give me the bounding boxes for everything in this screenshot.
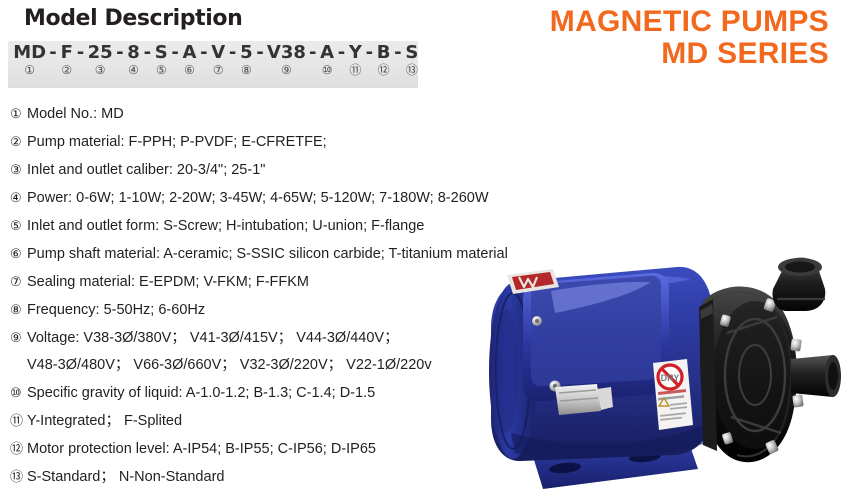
description-text: Specific gravity of liquid: A-1.0-1.2; B… (27, 380, 490, 407)
model-code-token: S (155, 43, 168, 63)
model-code-segment: 5⑧ (240, 43, 252, 78)
description-text: V48-3Ø/480V； V66-3Ø/660V； V32-3Ø/220V； V… (27, 352, 490, 379)
description-marker: ③ (10, 156, 27, 183)
model-code-index: ② (61, 63, 72, 78)
model-code-token: 25 (88, 43, 113, 63)
description-line: ⑥Pump shaft material: A-ceramic; S-SSIC … (10, 240, 490, 268)
description-line: ⑪Y-Integrated； F-Splited (10, 407, 490, 435)
page-title: MAGNETIC PUMPS MD SERIES (550, 6, 829, 70)
model-code-token: 5 (240, 43, 253, 63)
model-code-token: 8 (127, 43, 140, 63)
model-code-token: V38 (267, 43, 306, 63)
model-code-index: ⑥ (184, 63, 195, 78)
model-code-band: MD①-F②-25③-8④-S⑤-A⑥-V⑦-5⑧-V38⑨-A⑩-Y⑪-B⑫-… (8, 41, 418, 88)
description-line: ⑤Inlet and outlet form: S-Screw; H-intub… (10, 212, 490, 240)
description-marker: ② (10, 128, 27, 155)
model-description-panel: Model Description MD①-F②-25③-8④-S⑤-A⑥-V⑦… (0, 0, 500, 500)
description-marker: ⑥ (10, 240, 27, 267)
description-text: Inlet and outlet caliber: 20-3/4"; 25-1" (27, 157, 490, 184)
description-list: ①Model No.: MD②Pump material: F-PPH; P-P… (10, 100, 490, 491)
model-code-segment: S⑬ (406, 43, 418, 78)
description-line: V48-3Ø/480V； V66-3Ø/660V； V32-3Ø/220V； V… (10, 352, 490, 379)
description-text: Pump shaft material: A-ceramic; S-SSIC s… (27, 241, 508, 268)
model-code-segment: 8④ (128, 43, 140, 78)
description-marker: ⑤ (10, 212, 27, 239)
model-code-segment: Y⑪ (349, 43, 361, 78)
description-marker: ⑬ (10, 463, 27, 490)
description-text: Inlet and outlet form: S-Screw; H-intuba… (27, 213, 490, 240)
model-code-segment: A⑩ (320, 43, 333, 78)
model-code-segment: B⑫ (377, 43, 390, 78)
model-code-separator: - (196, 43, 211, 63)
description-line: ③Inlet and outlet caliber: 20-3/4"; 25-1… (10, 156, 490, 184)
model-code-index: ④ (128, 63, 139, 78)
description-line: ⑬S-Standard； N-Non-Standard (10, 463, 490, 491)
description-marker: ① (10, 100, 27, 127)
description-line: ⑩Specific gravity of liquid: A-1.0-1.2; … (10, 379, 490, 407)
page-title-line2: MD SERIES (550, 38, 829, 70)
description-line: ②Pump material: F-PPH; P-PVDF; E-CFRETFE… (10, 128, 490, 156)
no-dry-run-warning-label: DRY (653, 359, 693, 430)
model-code-token: B (377, 43, 391, 63)
description-line: ①Model No.: MD (10, 100, 490, 128)
model-code-segment: S⑤ (155, 43, 167, 78)
model-code-token: F (61, 43, 73, 63)
model-code-index: ⑧ (241, 63, 252, 78)
model-code-separator: - (305, 43, 320, 63)
section-title: Model Description (24, 6, 242, 31)
model-code-separator: - (390, 43, 405, 63)
pump-terminal-box (523, 273, 669, 401)
description-line: ⑨Voltage: V38-3Ø/380V； V41-3Ø/415V； V44-… (10, 324, 490, 352)
model-code-token: S (405, 43, 418, 63)
model-code-separator: - (362, 43, 377, 63)
description-text: Power: 0-6W; 1-10W; 2-20W; 3-45W; 4-65W;… (27, 185, 490, 212)
model-code-index: ⑬ (406, 63, 418, 78)
description-line: ⑧Frequency: 5-50Hz; 6-60Hz (10, 296, 490, 324)
model-code-separator: - (112, 43, 127, 63)
model-code-separator: - (334, 43, 349, 63)
model-code-segment: V38⑨ (268, 43, 305, 78)
model-code-separator: - (167, 43, 182, 63)
model-code-index: ⑫ (378, 63, 390, 78)
model-code-row: MD①-F②-25③-8④-S⑤-A⑥-V⑦-5⑧-V38⑨-A⑩-Y⑪-B⑫-… (8, 43, 418, 78)
description-text: S-Standard； N-Non-Standard (27, 464, 490, 491)
model-code-segment: MD① (14, 43, 45, 78)
model-code-token: Y (349, 43, 362, 63)
model-code-index: ① (24, 63, 35, 78)
model-code-token: A (320, 43, 334, 63)
description-line: ⑫Motor protection level: A-IP54; B-IP55;… (10, 435, 490, 463)
description-text: Model No.: MD (27, 101, 490, 128)
description-line: ⑦Sealing material: E-EPDM; V-FKM; F-FFKM (10, 268, 490, 296)
description-marker: ⑫ (10, 435, 27, 462)
page-title-line1: MAGNETIC PUMPS (550, 6, 829, 38)
description-marker: ⑦ (10, 268, 27, 295)
description-marker: ④ (10, 184, 27, 211)
model-code-token: V (211, 43, 225, 63)
model-code-index: ⑦ (213, 63, 224, 78)
model-code-segment: F② (61, 43, 73, 78)
pump-head (699, 286, 804, 462)
description-text: Voltage: V38-3Ø/380V； V41-3Ø/415V； V44-3… (27, 325, 490, 352)
model-code-index: ⑨ (281, 63, 292, 78)
model-code-index: ⑤ (156, 63, 167, 78)
model-code-separator: - (225, 43, 240, 63)
description-text: Sealing material: E-EPDM; V-FKM; F-FFKM (27, 269, 490, 296)
product-photo-magnetic-pump: DRY (455, 255, 841, 500)
model-code-separator: - (45, 43, 60, 63)
description-text: Frequency: 5-50Hz; 6-60Hz (27, 297, 490, 324)
model-code-segment: A⑥ (183, 43, 196, 78)
model-code-token: A (183, 43, 197, 63)
model-code-index: ⑪ (349, 63, 361, 78)
model-code-segment: V⑦ (212, 43, 225, 78)
description-marker: ⑩ (10, 379, 27, 406)
description-marker: ⑨ (10, 324, 27, 351)
model-code-token: MD (13, 43, 46, 63)
model-code-segment: 25③ (88, 43, 112, 78)
description-text: Pump material: F-PPH; P-PVDF; E-CFRETFE; (27, 129, 490, 156)
description-text: Y-Integrated； F-Splited (27, 408, 490, 435)
pump-suction-port (791, 355, 841, 397)
pump-discharge-port (773, 258, 826, 312)
model-code-separator: - (252, 43, 267, 63)
description-line: ④Power: 0-6W; 1-10W; 2-20W; 3-45W; 4-65W… (10, 184, 490, 212)
description-marker: ⑧ (10, 296, 27, 323)
description-text: Motor protection level: A-IP54; B-IP55; … (27, 436, 490, 463)
model-code-separator: - (73, 43, 88, 63)
description-marker: ⑪ (10, 407, 27, 434)
model-code-separator: - (140, 43, 155, 63)
svg-text:DRY: DRY (661, 373, 680, 383)
model-code-index: ③ (95, 63, 106, 78)
model-code-index: ⑩ (322, 63, 333, 78)
